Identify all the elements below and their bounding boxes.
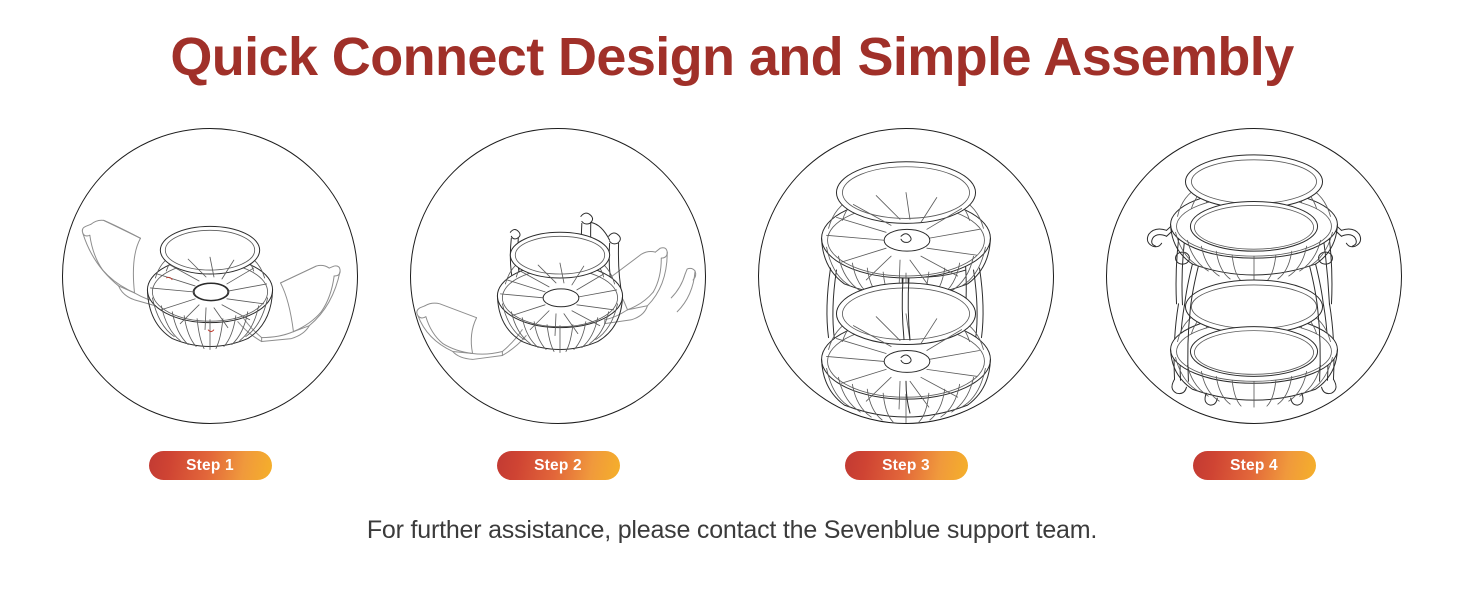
page-title: Quick Connect Design and Simple Assembly [0,26,1464,88]
step-3: Step 3 [758,128,1054,480]
two-tier-basket-finished-with-side-hooks-icon [1107,129,1401,423]
step-2-illustration-circle [410,128,706,424]
step-1-illustration-circle [62,128,358,424]
step-2-badge[interactable]: Step 2 [497,451,620,480]
step-1-badge[interactable]: Step 1 [149,451,272,480]
wire-basket-flat-with-legs-laid-out-icon [63,129,357,423]
poster-canvas: Quick Connect Design and Simple Assembly [0,0,1464,600]
step-2: Step 2 [410,128,706,480]
step-3-badge[interactable]: Step 3 [845,451,968,480]
two-tier-basket-stacked-wireframe-icon [759,129,1053,423]
step-4-illustration-circle [1106,128,1402,424]
wire-basket-with-hooks-raised-icon [411,129,705,423]
support-note: For further assistance, please contact t… [0,516,1464,545]
step-4-badge[interactable]: Step 4 [1193,451,1316,480]
step-4: Step 4 [1106,128,1402,480]
steps-row: Step 1 [0,128,1464,480]
step-1: Step 1 [62,128,358,480]
step-3-illustration-circle [758,128,1054,424]
